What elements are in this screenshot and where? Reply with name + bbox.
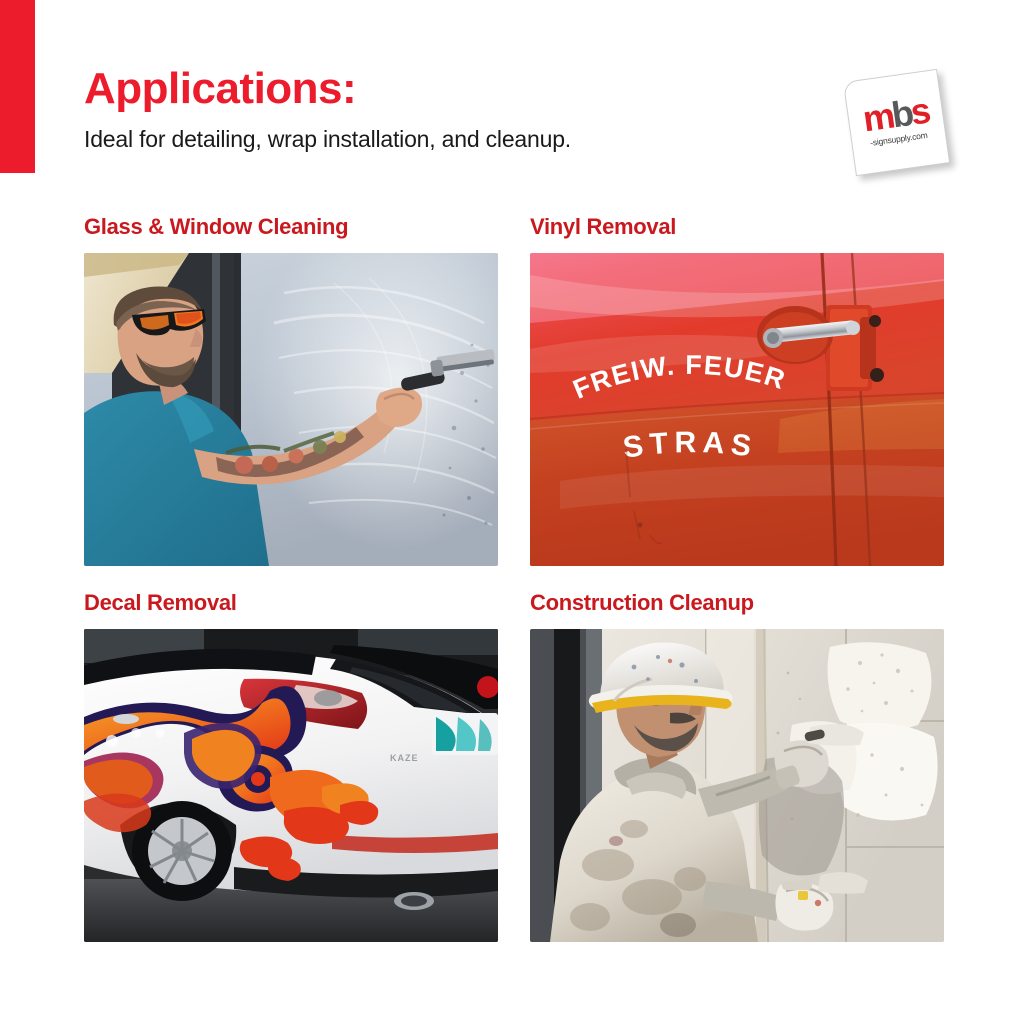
applications-grid: Glass & Window Cleaning (84, 214, 944, 942)
svg-text:KAZE: KAZE (390, 753, 419, 763)
card-heading: Construction Cleanup (530, 590, 944, 616)
page-title: Applications: (84, 66, 571, 112)
application-card-decal-removal: Decal Removal (84, 590, 498, 942)
application-card-vinyl-removal: Vinyl Removal (530, 214, 944, 566)
logo-card: m b s -signsupply.com (843, 69, 950, 176)
photo-decal-removal: KAZE (84, 629, 498, 942)
photo-vinyl-removal: FREIW. FEUERWEHR STRASS (530, 253, 944, 566)
card-heading: Decal Removal (84, 590, 498, 616)
logo-wordmark: m b s (861, 97, 929, 135)
page-subtitle: Ideal for detailing, wrap installation, … (84, 126, 571, 154)
application-card-construction-cleanup: Construction Cleanup (530, 590, 944, 942)
photo-construction-cleanup (530, 629, 944, 942)
photo-glass-window-cleaning (84, 253, 498, 566)
logo-letter-s: s (909, 97, 930, 128)
accent-bar (0, 0, 35, 173)
card-heading: Glass & Window Cleaning (84, 214, 498, 240)
card-heading: Vinyl Removal (530, 214, 944, 240)
header: Applications: Ideal for detailing, wrap … (84, 66, 571, 154)
logo-letter-m: m (861, 102, 894, 135)
application-card-glass-window-cleaning: Glass & Window Cleaning (84, 214, 498, 566)
brand-logo[interactable]: m b s -signsupply.com (843, 69, 950, 176)
